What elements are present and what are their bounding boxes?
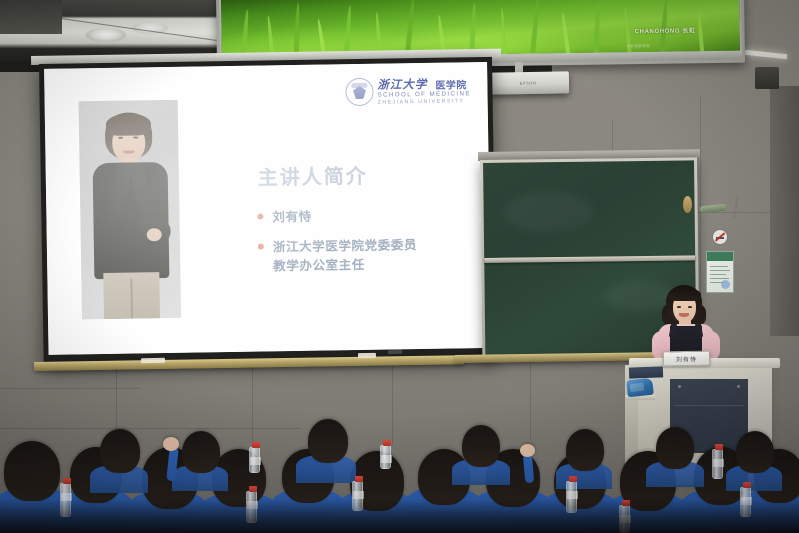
audience-head [566,429,604,471]
audience-head [4,441,60,501]
display-footer-text: 长虹智能电视 [627,44,650,49]
board-knob [683,196,692,213]
audience-head [182,431,220,473]
notice-header [707,252,733,261]
door-column [770,86,799,336]
foreground-shadow [0,499,799,533]
logo-english-university: ZHEJIANG UNIVERSITY [378,98,465,105]
display-brand: CHANGHONG 长虹 [635,25,696,35]
raised-hand [520,444,535,457]
university-logo: 浙江大学 医学院 SCHOOL OF MEDICINE ZHEJIANG UNI… [345,75,476,110]
slide-title: 主讲人简介 [258,160,368,191]
audience-head [100,429,140,473]
water-bottle [380,445,391,469]
water-bottle [712,449,723,479]
audience-head [656,427,694,469]
raised-hand [163,437,179,451]
nameplate: 刘有恃 [663,351,710,367]
wall-seam [0,388,140,389]
ceiling-projector: EPSON [487,71,569,94]
bullet-dot-icon [258,243,264,249]
projector-brand-label: EPSON [520,80,537,85]
bullet-dot-icon [257,213,263,219]
slide-bullet-list: 刘有恃 浙江大学医学院党委委员 教学办公室主任 [257,206,417,287]
university-seal-icon [345,78,373,106]
water-bottle [249,447,260,473]
blackboard-rail [484,255,695,263]
audience-head [308,419,348,463]
presentation-slide: 浙江大学 医学院 SCHOOL OF MEDICINE ZHEJIANG UNI… [44,62,491,355]
nameplate-stand [629,366,663,378]
blue-bag-on-shelf [626,378,654,398]
ceiling-light [86,28,126,42]
no-smoking-icon [712,229,728,245]
list-item: 刘有恃 [257,206,416,227]
audience [0,403,799,533]
bullet-subtext: 教学办公室主任 [273,255,417,276]
bullet-text: 刘有恃 [272,208,312,228]
audience-head [462,425,500,467]
projection-screen: 浙江大学 医学院 SCHOOL OF MEDICINE ZHEJIANG UNI… [39,57,497,365]
list-item: 浙江大学医学院党委委员 教学办公室主任 [258,236,418,276]
wall-speaker [755,67,779,89]
speaker-portrait-photo [79,100,181,320]
bullet-text: 浙江大学医学院党委委员 [273,236,417,257]
chalk-piece [358,353,376,358]
ceiling-duct [0,0,62,34]
screen-surface: 浙江大学 医学院 SCHOOL OF MEDICINE ZHEJIANG UNI… [44,62,491,355]
nameplate-text: 刘有恃 [676,354,697,363]
chalk-piece [141,358,165,363]
eraser [388,350,402,354]
logo-english-school: SCHOOL OF MEDICINE [377,90,470,98]
lecture-hall-photo: CHANGHONG 长虹 长虹智能电视 EPSON [0,0,799,533]
audience-head [736,431,774,473]
